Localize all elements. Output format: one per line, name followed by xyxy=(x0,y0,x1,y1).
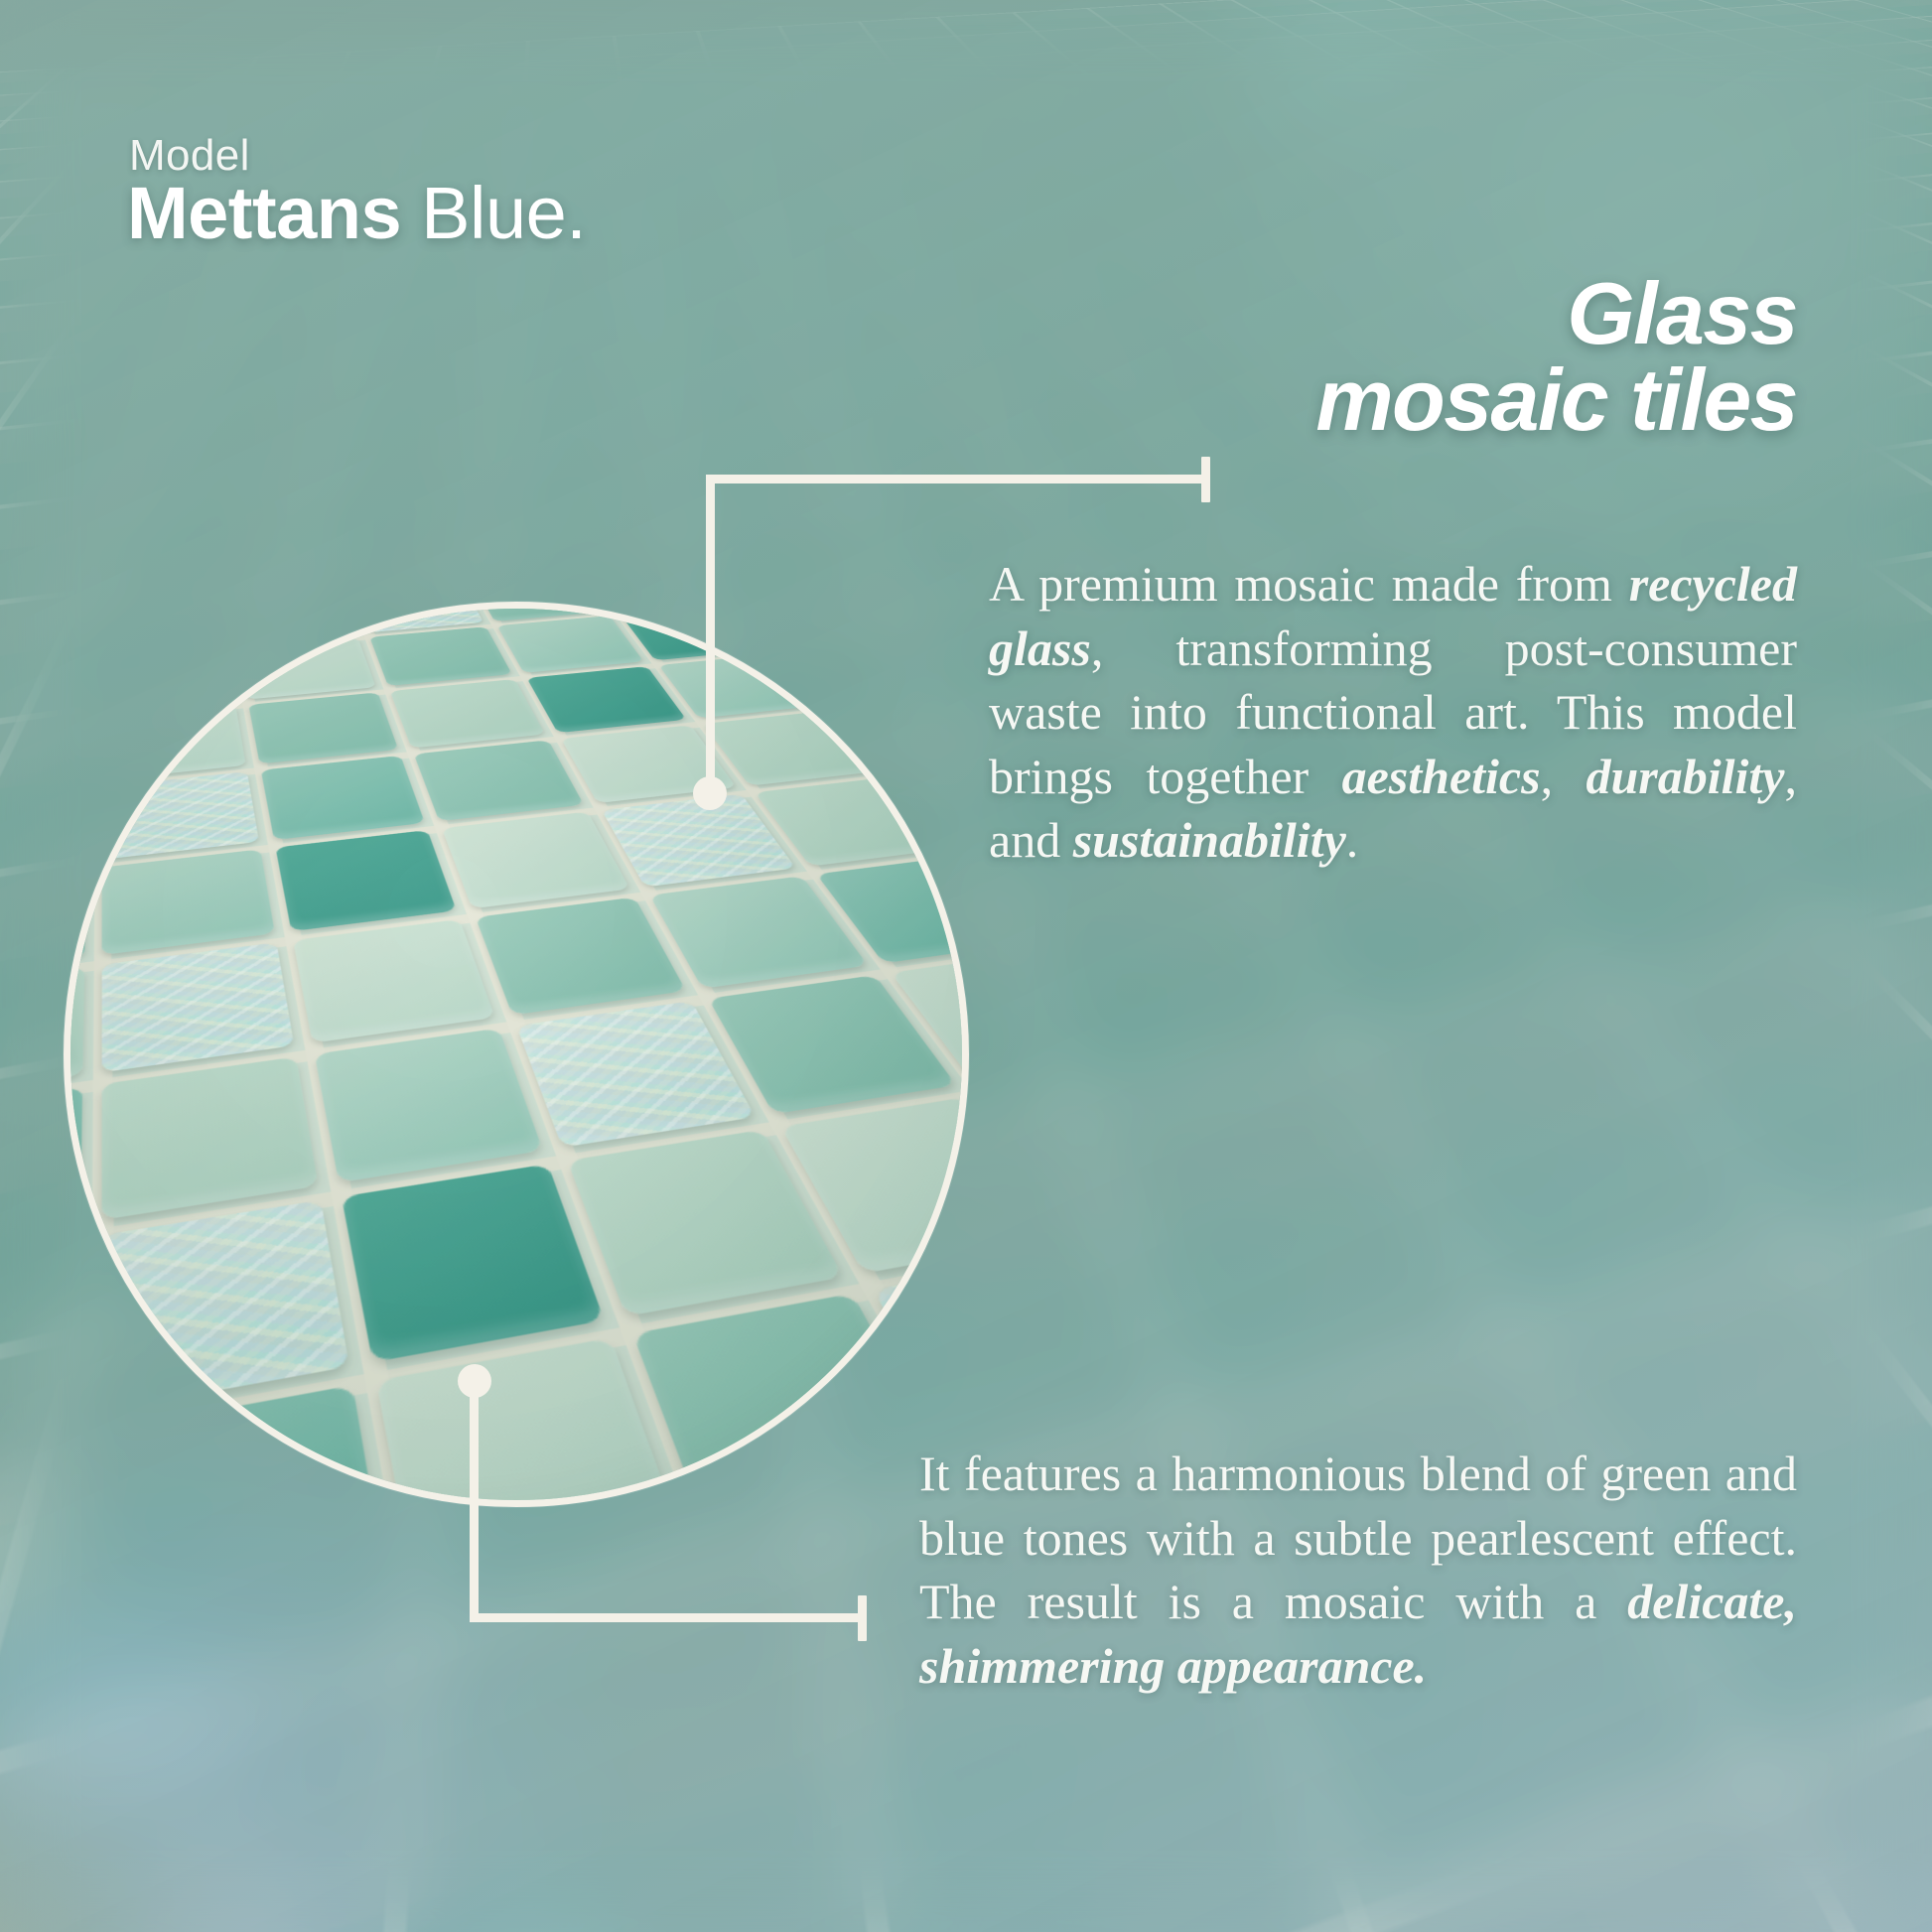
mosaic-tile xyxy=(101,602,224,656)
mosaic-tile xyxy=(101,649,234,713)
mosaic-tile xyxy=(376,1337,685,1507)
mosaic-tile xyxy=(261,756,425,840)
mosaic-tile xyxy=(101,706,245,780)
mosaic-tile xyxy=(293,919,494,1043)
leader-top-vertical xyxy=(706,475,715,798)
model-name-regular: Blue. xyxy=(401,172,586,254)
headline-line-1: Glass xyxy=(1567,264,1797,362)
mosaic-tile xyxy=(414,740,584,821)
leader-bottom-vertical xyxy=(470,1381,479,1622)
description-paragraph-top: A premium mosaic made from recycled glas… xyxy=(989,552,1797,873)
leader-bottom-horizontal xyxy=(470,1613,867,1622)
mosaic-tile xyxy=(101,771,258,860)
leader-bottom-cap-icon xyxy=(858,1595,867,1641)
mosaic-tile xyxy=(275,830,456,931)
page-title: Glass mosaic tiles xyxy=(1042,270,1797,443)
mosaic-tile xyxy=(496,616,643,673)
model-name-bold: Mettans xyxy=(127,172,401,254)
mosaic-tile xyxy=(248,692,398,763)
tile-closeup-circle xyxy=(64,602,969,1507)
mosaic-tile xyxy=(442,811,630,908)
leader-top-dot-icon xyxy=(693,776,727,810)
mosaic-tile xyxy=(516,1001,756,1148)
mosaic-tile xyxy=(476,897,686,1015)
model-name: Mettans Blue. xyxy=(127,175,586,252)
leader-top-horizontal xyxy=(706,475,1210,483)
description-paragraph-bottom: It features a harmonious blend of green … xyxy=(919,1442,1797,1698)
mosaic-tile xyxy=(315,1028,543,1182)
mosaic-tile xyxy=(101,942,294,1072)
mosaic-tile xyxy=(228,602,356,644)
mosaic-tile xyxy=(101,849,274,955)
poster-canvas: Model Mettans Blue. Glass mosaic tiles A… xyxy=(0,0,1932,1932)
mosaic-tile xyxy=(237,638,375,700)
mosaic-tile xyxy=(390,679,545,748)
leader-top-cap-icon xyxy=(1201,457,1210,502)
mosaic-tile xyxy=(101,1056,318,1219)
mosaic-tile xyxy=(342,1164,605,1362)
mosaic-tile xyxy=(526,666,686,733)
mosaic-tile xyxy=(369,626,511,686)
tile-grid xyxy=(64,602,969,1507)
headline-line-2: mosaic tiles xyxy=(1315,350,1797,449)
mosaic-tile xyxy=(101,1200,348,1412)
